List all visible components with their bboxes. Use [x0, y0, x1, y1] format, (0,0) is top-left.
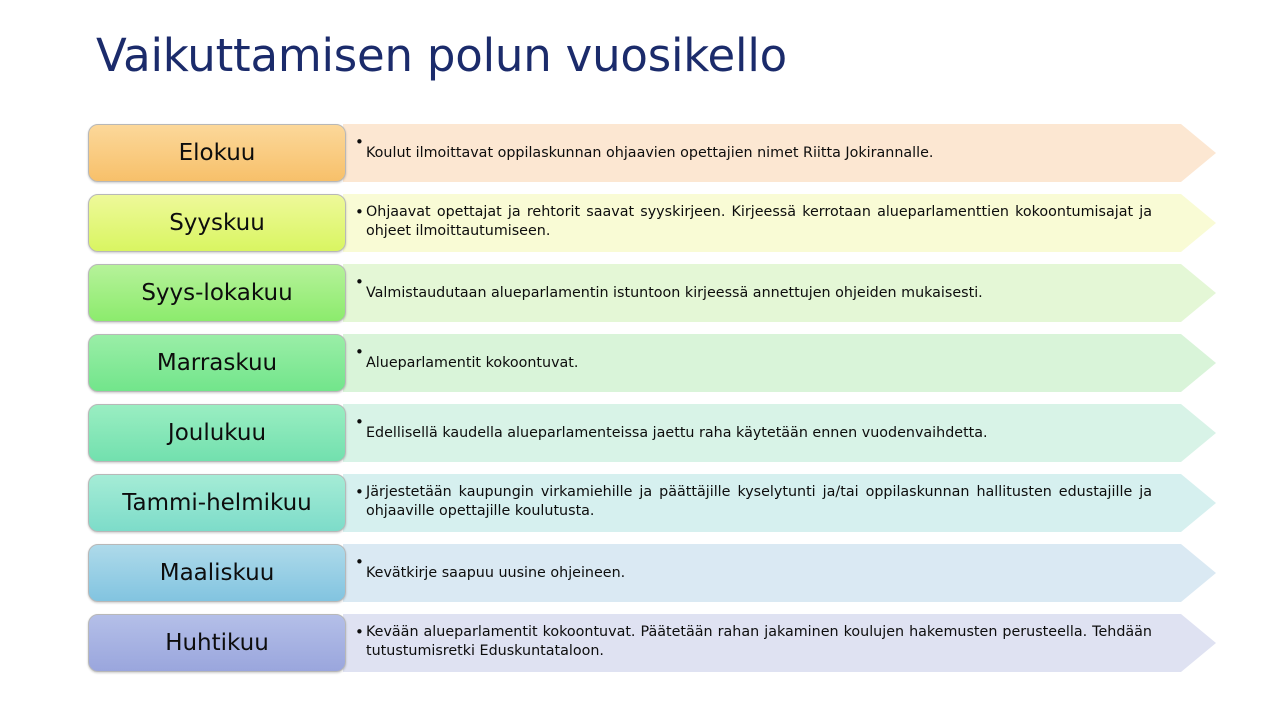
timeline-description: Kevään alueparlamentit kokoontuvat. Päät…: [366, 623, 1156, 661]
timeline-description: Edellisellä kaudella alueparlamenteissa …: [366, 424, 1156, 443]
timeline-row: •Kevätkirje saapuu uusine ohjeineen.Maal…: [88, 544, 1216, 602]
timeline-banner-arrow: •Kevätkirje saapuu uusine ohjeineen.: [343, 544, 1216, 602]
timeline-banner-arrow: •Koulut ilmoittavat oppilaskunnan ohjaav…: [343, 124, 1216, 182]
month-chip-label: Tammi-helmikuu: [122, 492, 312, 515]
timeline-description: Ohjaavat opettajat ja rehtorit saavat sy…: [366, 203, 1156, 241]
timeline-row: •Ohjaavat opettajat ja rehtorit saavat s…: [88, 194, 1216, 252]
month-chip[interactable]: Joulukuu: [88, 404, 346, 462]
timeline-row: •Valmistaudutaan alueparlamentin istunto…: [88, 264, 1216, 322]
banner-text-wrap: •Valmistaudutaan alueparlamentin istunto…: [355, 264, 1156, 322]
timeline-banner-arrow: •Ohjaavat opettajat ja rehtorit saavat s…: [343, 194, 1216, 252]
timeline-banner-arrow: •Kevään alueparlamentit kokoontuvat. Pää…: [343, 614, 1216, 672]
timeline-description: Järjestetään kaupungin virkamiehille ja …: [366, 483, 1156, 521]
timeline-description: Kevätkirje saapuu uusine ohjeineen.: [366, 564, 1156, 583]
banner-text-wrap: •Järjestetään kaupungin virkamiehille ja…: [355, 474, 1156, 541]
month-chip[interactable]: Tammi-helmikuu: [88, 474, 346, 532]
bullet-icon: •: [355, 553, 366, 572]
timeline-description: Valmistaudutaan alueparlamentin istuntoo…: [366, 284, 1156, 303]
timeline-description: Alueparlamentit kokoontuvat.: [366, 354, 1156, 373]
timeline-row: •Edellisellä kaudella alueparlamenteissa…: [88, 404, 1216, 462]
bullet-icon: •: [355, 203, 366, 222]
bullet-icon: •: [355, 133, 366, 152]
banner-text-wrap: •Kevätkirje saapuu uusine ohjeineen.: [355, 544, 1156, 602]
month-chip-label: Syyskuu: [169, 212, 265, 235]
month-chip[interactable]: Syyskuu: [88, 194, 346, 252]
bullet-icon: •: [355, 413, 366, 432]
banner-text-wrap: •Alueparlamentit kokoontuvat.: [355, 334, 1156, 392]
month-chip-label: Joulukuu: [168, 422, 266, 445]
month-chip[interactable]: Huhtikuu: [88, 614, 346, 672]
timeline-row: •Järjestetään kaupungin virkamiehille ja…: [88, 474, 1216, 532]
bullet-icon: •: [355, 623, 366, 642]
month-chip-label: Marraskuu: [157, 352, 277, 375]
timeline-banner-arrow: •Valmistaudutaan alueparlamentin istunto…: [343, 264, 1216, 322]
banner-text-wrap: •Kevään alueparlamentit kokoontuvat. Pää…: [355, 614, 1156, 681]
timeline-banner-arrow: •Alueparlamentit kokoontuvat.: [343, 334, 1216, 392]
year-clock-timeline: •Koulut ilmoittavat oppilaskunnan ohjaav…: [88, 124, 1216, 684]
timeline-row: •Alueparlamentit kokoontuvat.Marraskuu: [88, 334, 1216, 392]
month-chip[interactable]: Maaliskuu: [88, 544, 346, 602]
banner-text-wrap: •Koulut ilmoittavat oppilaskunnan ohjaav…: [355, 124, 1156, 182]
month-chip[interactable]: Syys-lokakuu: [88, 264, 346, 322]
banner-text-wrap: •Edellisellä kaudella alueparlamenteissa…: [355, 404, 1156, 462]
month-chip-label: Elokuu: [179, 142, 256, 165]
banner-text-wrap: •Ohjaavat opettajat ja rehtorit saavat s…: [355, 194, 1156, 261]
timeline-row: •Kevään alueparlamentit kokoontuvat. Pää…: [88, 614, 1216, 672]
bullet-icon: •: [355, 343, 366, 362]
bullet-icon: •: [355, 273, 366, 292]
slide-canvas: Vaikuttamisen polun vuosikello •Koulut i…: [0, 0, 1280, 720]
month-chip-label: Syys-lokakuu: [141, 282, 292, 305]
timeline-banner-arrow: •Edellisellä kaudella alueparlamenteissa…: [343, 404, 1216, 462]
page-title: Vaikuttamisen polun vuosikello: [96, 32, 787, 79]
month-chip[interactable]: Elokuu: [88, 124, 346, 182]
month-chip-label: Huhtikuu: [165, 632, 269, 655]
month-chip[interactable]: Marraskuu: [88, 334, 346, 392]
timeline-row: •Koulut ilmoittavat oppilaskunnan ohjaav…: [88, 124, 1216, 182]
bullet-icon: •: [355, 483, 366, 502]
month-chip-label: Maaliskuu: [160, 562, 275, 585]
timeline-banner-arrow: •Järjestetään kaupungin virkamiehille ja…: [343, 474, 1216, 532]
timeline-description: Koulut ilmoittavat oppilaskunnan ohjaavi…: [366, 144, 1156, 163]
